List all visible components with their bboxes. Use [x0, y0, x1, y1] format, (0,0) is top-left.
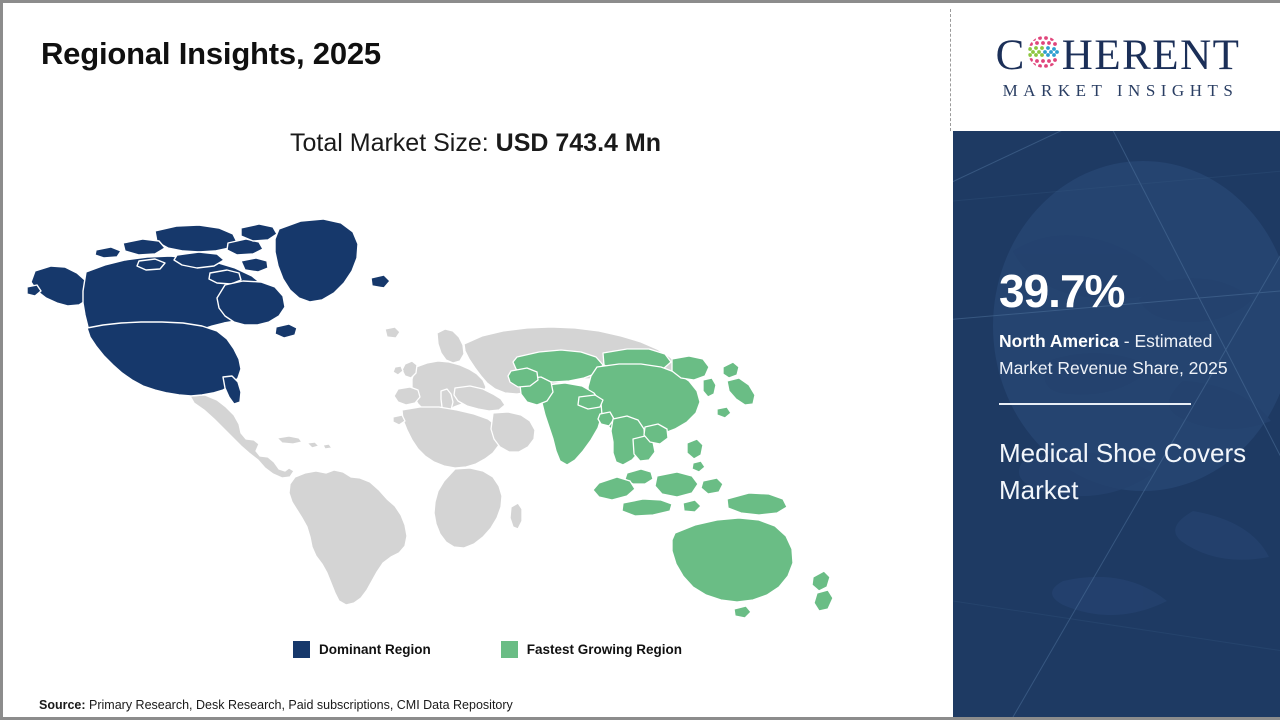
brand-logo[interactable]: C [953, 3, 1280, 131]
stat-region-name: North America [999, 331, 1119, 351]
stat-description: North America - Estimated Market Revenue… [999, 328, 1261, 381]
infographic-page: Regional Insights, 2025 Total Market Siz… [0, 0, 1280, 720]
panel-divider [950, 9, 951, 131]
page-title: Regional Insights, 2025 [41, 36, 381, 72]
legend-label-fastest-growing: Fastest Growing Region [527, 642, 682, 657]
source-note: Source: Primary Research, Desk Research,… [39, 698, 513, 712]
total-market-size-label: Total Market Size: [290, 129, 496, 157]
source-text: Primary Research, Desk Research, Paid su… [86, 698, 513, 712]
map-region-fastest-growing-asia-pacific [508, 349, 833, 618]
stat-panel: 39.7% North America - Estimated Market R… [953, 131, 1280, 717]
legend-label-dominant: Dominant Region [319, 642, 431, 657]
square-swatch-icon [293, 641, 310, 658]
market-name: Medical Shoe Covers Market [999, 435, 1261, 509]
logo-subtitle: MARKET INSIGHTS [998, 81, 1239, 101]
stat-divider [999, 403, 1191, 405]
legend-item-dominant: Dominant Region [293, 641, 431, 658]
total-market-size: Total Market Size: USD 743.4 Mn [3, 129, 948, 158]
right-sidebar: C [953, 3, 1280, 717]
world-map-svg [27, 181, 847, 621]
square-swatch-icon [501, 641, 518, 658]
map-legend: Dominant Region Fastest Growing Region [293, 641, 682, 658]
map-region-dominant-north-america [27, 219, 390, 404]
source-label: Source: [39, 698, 86, 712]
logo-letter-c: C [996, 34, 1026, 77]
stat-content: 39.7% North America - Estimated Market R… [999, 131, 1261, 509]
world-map [27, 181, 847, 621]
stat-percentage: 39.7% [999, 268, 1261, 314]
logo-word-herent: HERENT [1062, 34, 1241, 77]
left-content-panel: Regional Insights, 2025 Total Market Siz… [3, 3, 948, 717]
globe-dot-grid-icon [1027, 34, 1061, 77]
legend-item-fastest-growing: Fastest Growing Region [501, 641, 682, 658]
logo-wordmark: C [996, 34, 1241, 77]
total-market-size-value: USD 743.4 Mn [496, 129, 661, 157]
